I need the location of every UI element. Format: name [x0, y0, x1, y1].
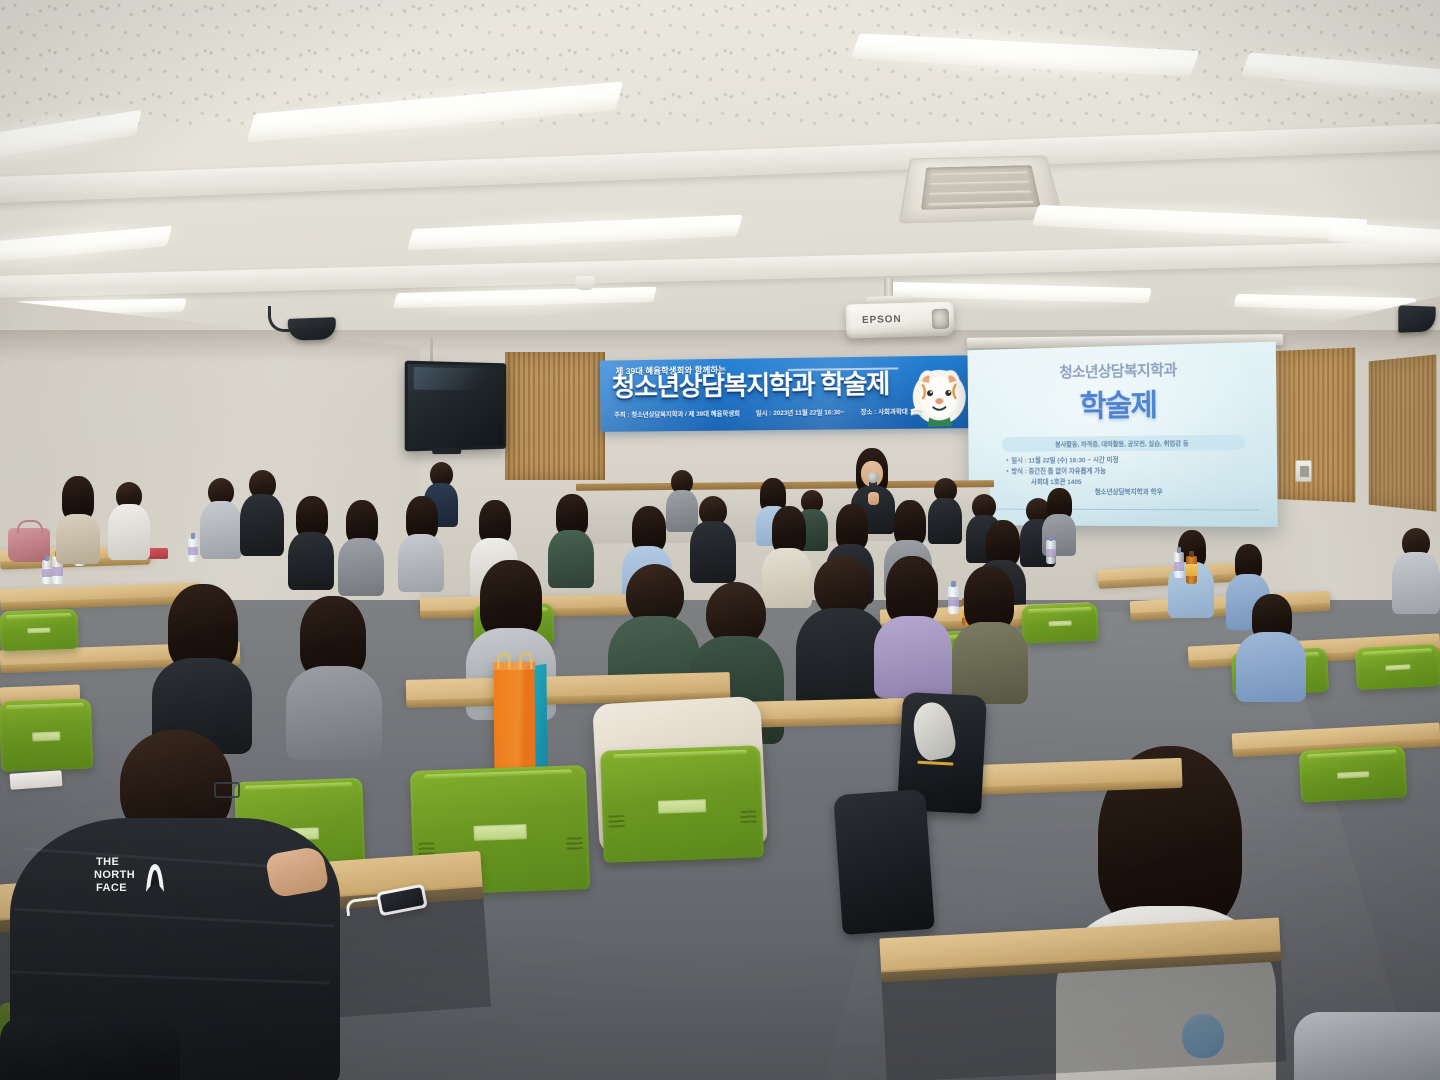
classroom-chair[interactable]: [600, 745, 764, 863]
tv-screen-glare: [414, 367, 498, 390]
slide-topic-text: 봉사활동, 자격증, 대외활동, 공모전, 실습, 취업감 등: [1002, 438, 1245, 449]
ceiling-tile-texture: [0, 0, 1440, 130]
person-torso: [200, 501, 242, 559]
person-torso: [56, 514, 100, 564]
slide-title: 학술제: [968, 378, 1277, 427]
wooden-slat-wall: [505, 352, 605, 480]
classroom-chair[interactable]: [0, 609, 79, 652]
wall-outlet-plate[interactable]: [1295, 460, 1312, 482]
person-torso: [108, 504, 150, 560]
person-torso: [288, 532, 334, 590]
banner-host: 주최 : 청소년상담복지학과 / 제 39대 혜윰학생회: [614, 409, 740, 419]
person-torso: [874, 616, 952, 698]
ac-vent-grille: [921, 165, 1041, 210]
person-torso: [1392, 552, 1440, 614]
audience-member: [338, 500, 384, 584]
water-bottle: [188, 538, 198, 562]
ceiling: [0, 0, 1440, 345]
audience-member: [874, 556, 952, 684]
foreground-shoulder: [0, 1016, 180, 1080]
audience-member: [1042, 488, 1076, 548]
person-torso: [928, 498, 962, 544]
projector: EPSON: [846, 301, 955, 338]
person-hair: [480, 560, 542, 638]
slide-line: 방식 : 중간진 틈 없이 자유롭게 가능: [1006, 466, 1250, 478]
audience-member: [56, 476, 100, 552]
audience-member: [928, 478, 962, 540]
person-torso: [338, 538, 384, 596]
audience-member: [240, 470, 284, 550]
person-hair: [772, 506, 806, 554]
projection-screen: 청소년상담복지학과 학술제 봉사활동, 자격증, 대외활동, 공모전, 실습, …: [968, 342, 1278, 528]
vitamin-drink-bottle: [1186, 556, 1197, 584]
ceiling-light: [407, 215, 743, 251]
classroom-chair[interactable]: [1355, 644, 1440, 690]
ceiling-beam: [0, 239, 1440, 299]
tv-cable: [430, 338, 433, 364]
water-bottle: [1046, 540, 1056, 564]
person-hair: [964, 566, 1014, 630]
audience-member: [286, 596, 382, 742]
tv-mount-bracket: [432, 448, 461, 454]
slide-topic-pill: 봉사활동, 자격증, 대외활동, 공모전, 실습, 취업감 등: [1002, 435, 1246, 452]
projector-brand-label: EPSON: [862, 314, 902, 326]
tiger-mascot-icon: [882, 356, 972, 428]
pink-handbag: [8, 528, 50, 562]
ceiling-light: [0, 226, 172, 267]
banner-main-title: 청소년상담복지학과 학술제: [612, 371, 889, 400]
audience-member: [952, 566, 1028, 690]
audience-member: [200, 478, 242, 554]
svg-text:FACE: FACE: [96, 882, 127, 894]
audience-member: [1236, 594, 1306, 690]
lecture-hall-photo: EPSON 제 39대 혜윰학생회와 함께하는 청소년상담복지학과 학술제 주최…: [0, 0, 1440, 1080]
event-banner: 제 39대 혜윰학생회와 함께하는 청소년상담복지학과 학술제 주최 : 청소년…: [600, 355, 972, 432]
water-bottle: [42, 560, 52, 584]
audience-member: [1392, 528, 1440, 610]
svg-text:THE: THE: [96, 856, 119, 868]
wooden-slat-wall: [1369, 354, 1437, 511]
audience-member: [398, 496, 444, 580]
slide-line: 사회대 1호관 1405: [1006, 477, 1250, 488]
eyeglasses-icon: [214, 782, 240, 798]
audience-member: [108, 482, 150, 556]
foreground-shoulder: [1294, 1012, 1440, 1080]
phone-screen[interactable]: [380, 887, 425, 913]
north-face-logo-icon: THE NORTH FACE: [94, 852, 168, 900]
svg-text:NORTH: NORTH: [94, 869, 135, 881]
backpack: [833, 789, 935, 935]
projector-lens-icon: [932, 309, 950, 329]
wall-mounted-tv[interactable]: [405, 361, 506, 452]
water-bottle: [1174, 552, 1184, 578]
person-torso: [952, 622, 1028, 704]
person-hair: [886, 556, 938, 624]
smoke-detector-icon: [575, 276, 595, 290]
banner-datetime: 일시 : 2023년 11월 22일 16:30~: [756, 407, 845, 417]
person-torso: [398, 534, 444, 592]
classroom-chair[interactable]: [1299, 745, 1408, 802]
ceiling-beam: [0, 122, 1440, 204]
audience-member: [152, 584, 252, 734]
ceiling-light: [393, 287, 657, 308]
person-torso: [240, 494, 284, 556]
classroom-chair[interactable]: [1021, 603, 1098, 644]
ceiling-light: [888, 282, 1152, 303]
ceiling-light: [1032, 205, 1368, 240]
audience-member: [288, 496, 334, 578]
orange-gift-bag: [493, 662, 536, 780]
person-jacket: [1236, 632, 1306, 702]
